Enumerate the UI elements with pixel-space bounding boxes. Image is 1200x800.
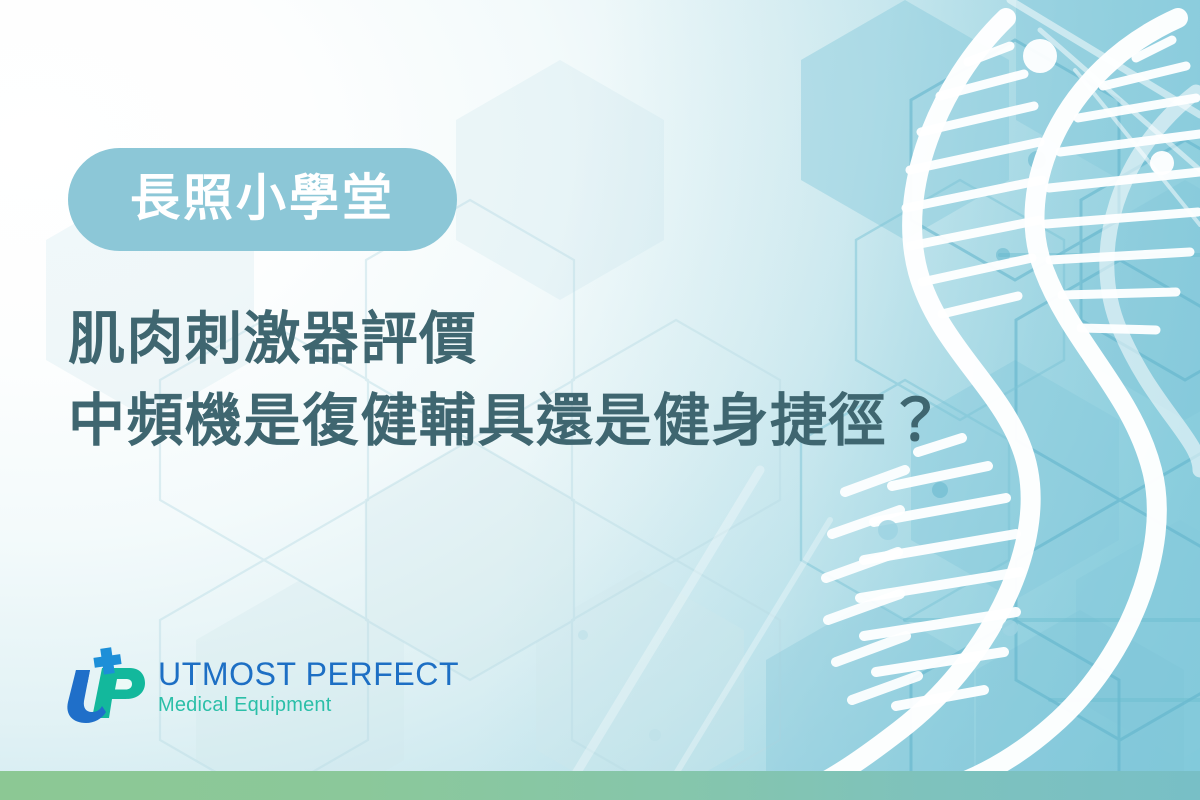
page-title: 肌肉刺激器評價 中頻機是復健輔具還是健身捷徑？ bbox=[68, 298, 1128, 462]
brand-tagline: Medical Equipment bbox=[158, 693, 459, 718]
headline-line-2: 中頻機是復健輔具還是健身捷徑？ bbox=[68, 380, 1128, 462]
promo-banner: 長照小學堂 肌肉刺激器評價 中頻機是復健輔具還是健身捷徑？ UTMOST PER… bbox=[0, 0, 1200, 800]
brand-logo: UTMOST PERFECT Medical Equipment bbox=[62, 646, 459, 726]
headline-line-1: 肌肉刺激器評價 bbox=[68, 298, 1128, 380]
bottom-accent-bar bbox=[0, 771, 1200, 800]
brand-logo-text: UTMOST PERFECT Medical Equipment bbox=[158, 654, 459, 719]
category-badge: 長照小學堂 bbox=[68, 148, 457, 251]
up-plus-logo-icon bbox=[62, 646, 146, 726]
category-badge-label: 長照小學堂 bbox=[130, 173, 395, 226]
brand-name: UTMOST PERFECT bbox=[158, 658, 459, 692]
